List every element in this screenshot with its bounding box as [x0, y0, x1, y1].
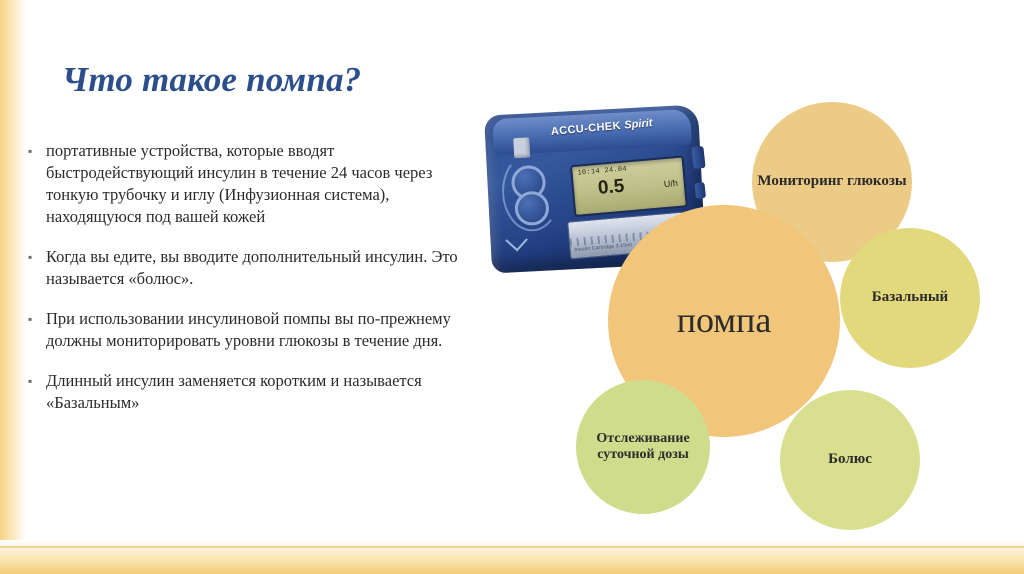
venn-diagram: Мониторинг глюкозы помпа Базальный Отсле… — [560, 80, 1024, 550]
slide-canvas: Что такое помпа? ▪ портативные устройств… — [0, 0, 1024, 574]
list-item: ▪ портативные устройства, которые вводят… — [26, 140, 471, 228]
left-gold-gradient-band — [0, 0, 26, 574]
list-item-text: Когда вы едите, вы вводите дополнительны… — [46, 246, 471, 290]
bullet-marker-icon: ▪ — [26, 370, 46, 392]
diagram-node-basal: Базальный — [840, 228, 980, 368]
bottom-accent-rule — [0, 546, 1024, 548]
list-item-text: При использовании инсулиновой помпы вы п… — [46, 308, 471, 352]
bullet-marker-icon: ▪ — [26, 308, 46, 330]
list-item: ▪ При использовании инсулиновой помпы вы… — [26, 308, 471, 352]
list-item: ▪ Когда вы едите, вы вводите дополнитель… — [26, 246, 471, 290]
diagram-node-bolus: Болюс — [780, 390, 920, 530]
bullet-marker-icon: ▪ — [26, 246, 46, 268]
pump-check-icon — [505, 229, 528, 252]
bullet-list: ▪ портативные устройства, которые вводят… — [26, 140, 471, 432]
list-item-text: портативные устройства, которые вводят б… — [46, 140, 471, 228]
list-item: ▪ Длинный инсулин заменяется коротким и … — [26, 370, 471, 414]
list-item-text: Длинный инсулин заменяется коротким и на… — [46, 370, 471, 414]
bullet-marker-icon: ▪ — [26, 140, 46, 162]
page-title: Что такое помпа? — [62, 60, 361, 100]
diagram-node-tracking: Отслеживание суточной дозы — [576, 380, 710, 514]
